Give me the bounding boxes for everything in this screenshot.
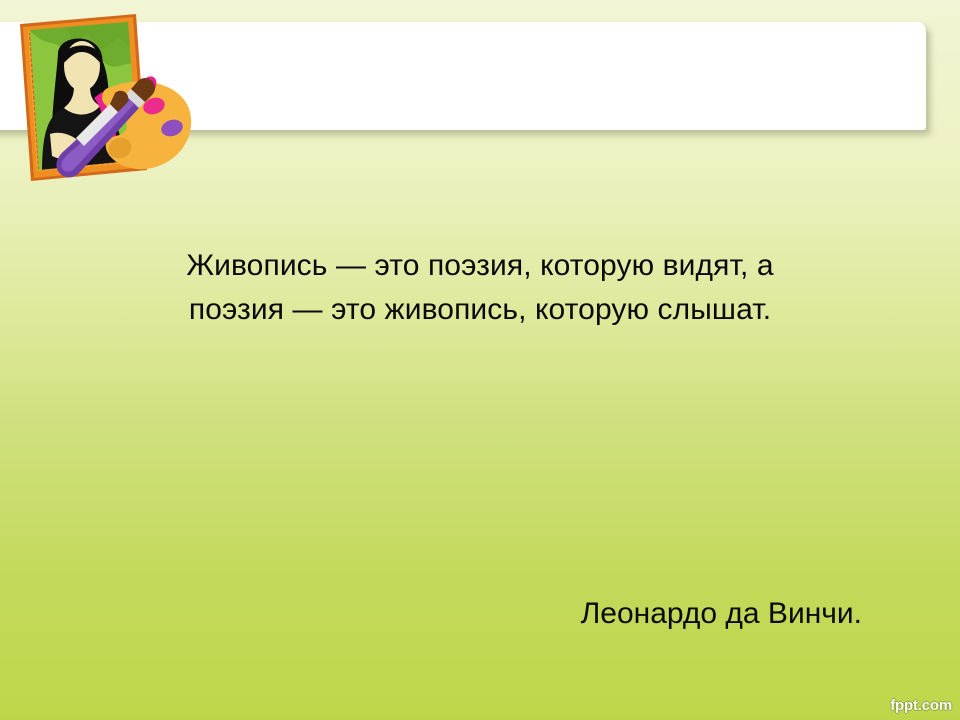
quote-text: Живопись — это поэзия, которую видят, а … [62, 244, 898, 332]
quote-line-1: Живопись — это поэзия, которую видят, а [62, 244, 898, 288]
quote-attribution: Леонардо да Винчи. [62, 594, 862, 633]
presentation-slide: Живопись — это поэзия, которую видят, а … [0, 0, 960, 720]
fppt-watermark: fppt.com [890, 697, 952, 714]
mona-lisa-artwork-illustration [6, 8, 196, 193]
quote-line-2: поэзия — это живопись, которую слышат. [62, 288, 898, 332]
